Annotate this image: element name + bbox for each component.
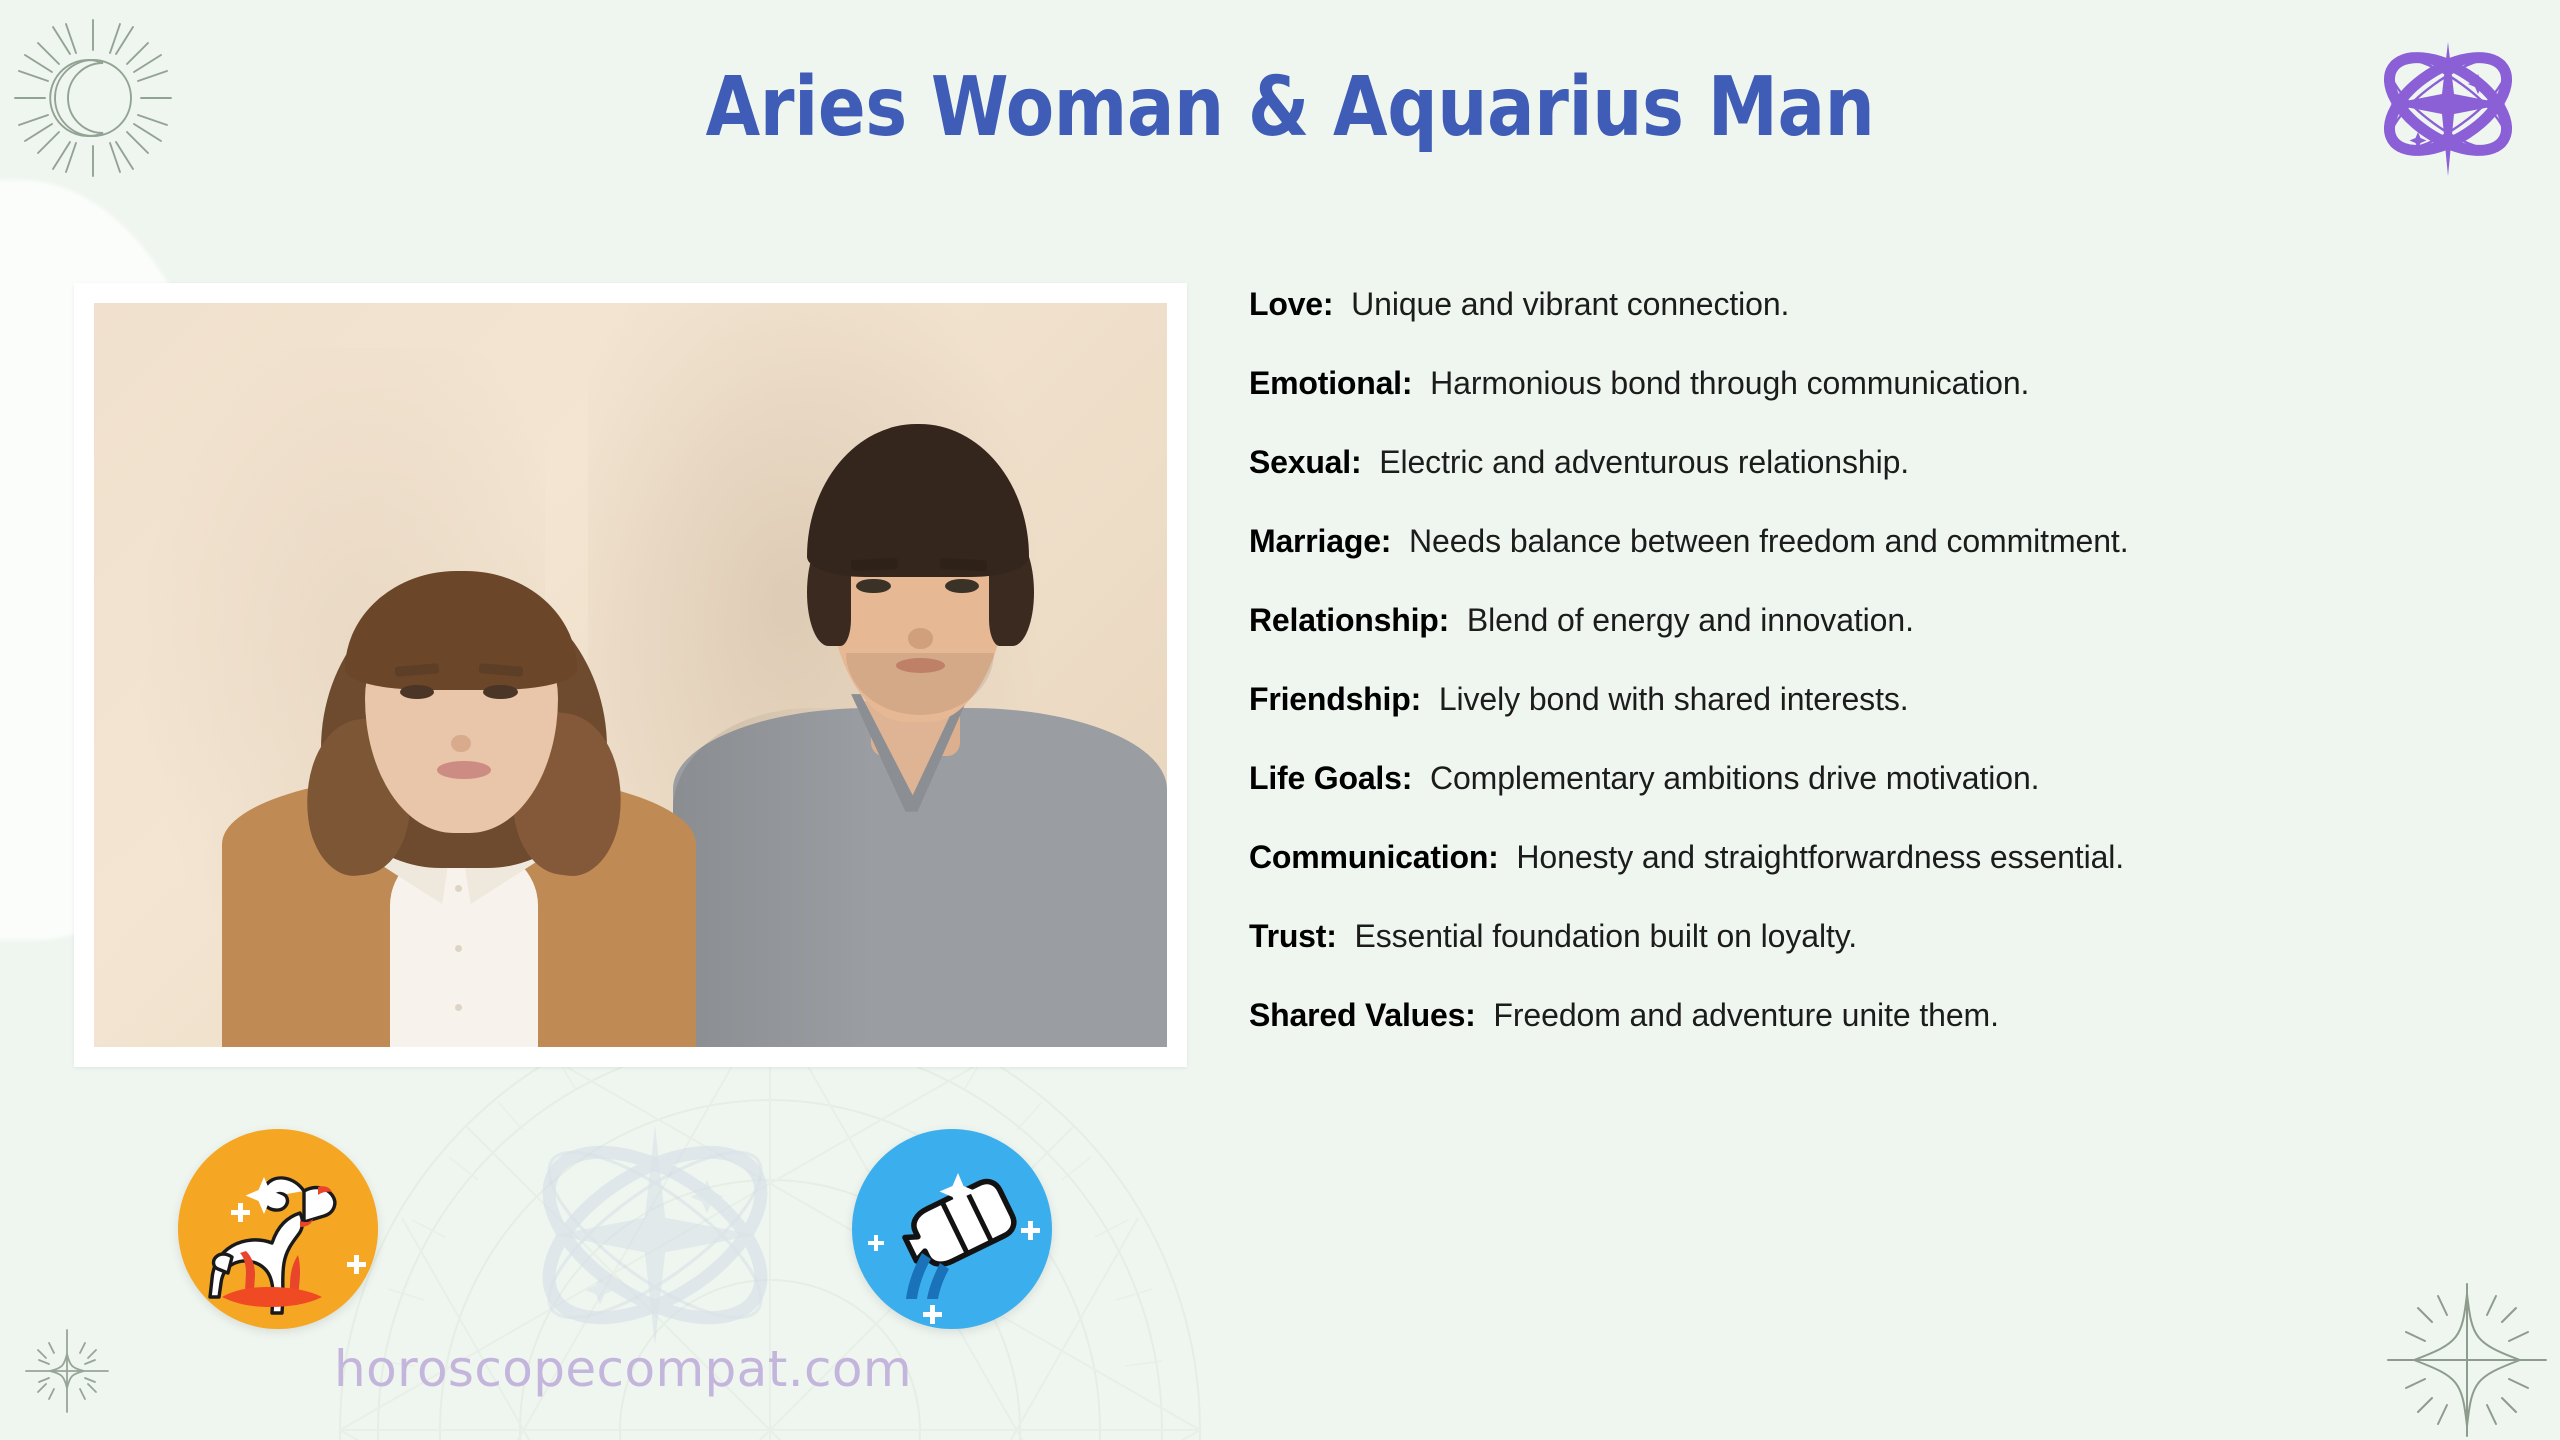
trait-label: Life Goals: (1249, 760, 1412, 796)
aries-ram-icon[interactable] (178, 1129, 378, 1329)
compatibility-traits-list: Love: Unique and vibrant connection.Emot… (1249, 288, 2459, 1031)
atom-star-logo[interactable] (2368, 36, 2528, 178)
sun-rays-icon (8, 10, 178, 185)
trait-label: Sexual: (1249, 444, 1361, 480)
atom-logo-watermark (510, 1105, 800, 1365)
trait-label: Friendship: (1249, 681, 1421, 717)
trait-label: Communication: (1249, 839, 1499, 875)
trait-row: Life Goals: Complementary ambitions driv… (1249, 762, 2459, 794)
trait-description: Complementary ambitions drive motivation… (1430, 760, 2039, 796)
trait-description: Essential foundation built on loyalty. (1354, 918, 1857, 954)
site-watermark: horoscopecompat.com (334, 1340, 912, 1398)
trait-row: Marriage: Needs balance between freedom … (1249, 525, 2459, 557)
trait-row: Trust: Essential foundation built on loy… (1249, 920, 2459, 952)
trait-row: Relationship: Blend of energy and innova… (1249, 604, 2459, 636)
couple-photo-card (74, 283, 1187, 1067)
trait-description: Freedom and adventure unite them. (1493, 997, 1998, 1033)
trait-label: Relationship: (1249, 602, 1449, 638)
trait-description: Lively bond with shared interests. (1439, 681, 1909, 717)
trait-label: Marriage: (1249, 523, 1391, 559)
couple-photo (94, 303, 1167, 1047)
trait-description: Harmonious bond through communication. (1430, 365, 2029, 401)
sparkle-star-icon (8, 1312, 126, 1430)
four-point-star-icon (2380, 1280, 2555, 1440)
trait-description: Needs balance between freedom and commit… (1409, 523, 2128, 559)
trait-label: Trust: (1249, 918, 1337, 954)
photo-woman (212, 452, 706, 1047)
trait-description: Honesty and straightforwardness essentia… (1516, 839, 2124, 875)
trait-label: Shared Values: (1249, 997, 1476, 1033)
aquarius-water-jug-icon[interactable] (852, 1129, 1052, 1329)
trait-row: Emotional: Harmonious bond through commu… (1249, 367, 2459, 399)
trait-row: Sexual: Electric and adventurous relatio… (1249, 446, 2459, 478)
trait-row: Communication: Honesty and straightforwa… (1249, 841, 2459, 873)
trait-description: Electric and adventurous relationship. (1379, 444, 1909, 480)
trait-label: Love: (1249, 286, 1333, 322)
compatibility-infographic: Aries Woman & Aquarius Man (0, 0, 2560, 1440)
page-title: Aries Woman & Aquarius Man (439, 62, 2142, 154)
trait-row: Friendship: Lively bond with shared inte… (1249, 683, 2459, 715)
trait-description: Unique and vibrant connection. (1351, 286, 1789, 322)
trait-label: Emotional: (1249, 365, 1412, 401)
trait-row: Love: Unique and vibrant connection. (1249, 288, 2459, 320)
trait-row: Shared Values: Freedom and adventure uni… (1249, 999, 2459, 1031)
trait-description: Blend of energy and innovation. (1467, 602, 1914, 638)
photo-man (673, 355, 1167, 1047)
